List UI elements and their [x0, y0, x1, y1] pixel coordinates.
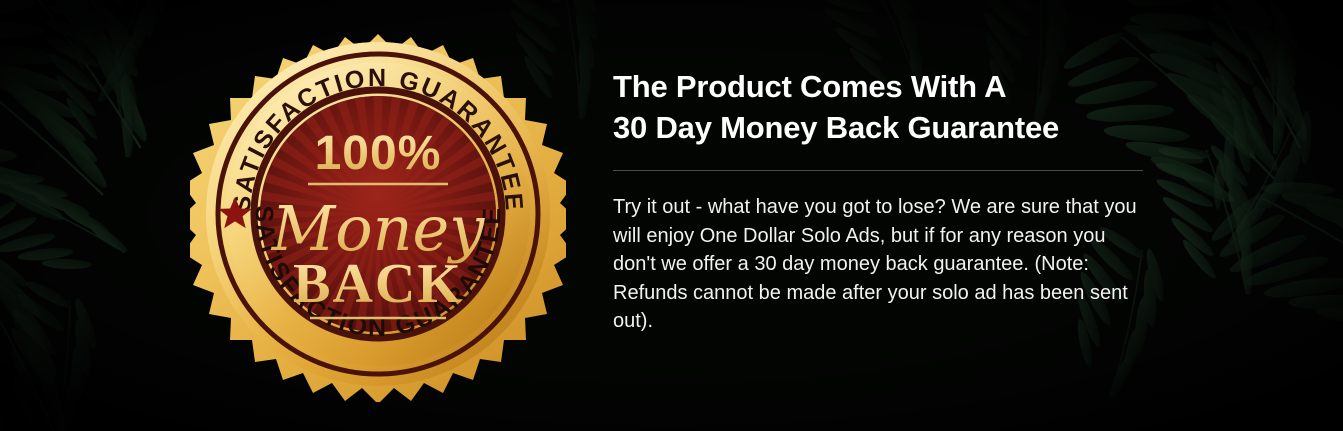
badge-block-word: BACK: [293, 253, 463, 315]
money-back-guarantee-badge: SATISFACTION GUARANTEE SATISFACTION GUAR…: [190, 26, 566, 402]
page-title-line-1: The Product Comes With A: [613, 66, 1153, 107]
badge-graphic: SATISFACTION GUARANTEE SATISFACTION GUAR…: [190, 26, 566, 402]
guarantee-section: SATISFACTION GUARANTEE SATISFACTION GUAR…: [0, 0, 1343, 431]
page-title-line-2: 30 Day Money Back Guarantee: [613, 107, 1153, 148]
guarantee-copy: The Product Comes With A 30 Day Money Ba…: [613, 66, 1153, 336]
guarantee-description: Try it out - what have you got to lose? …: [613, 193, 1145, 336]
badge-percent: 100%: [315, 127, 442, 180]
divider: [613, 170, 1143, 171]
